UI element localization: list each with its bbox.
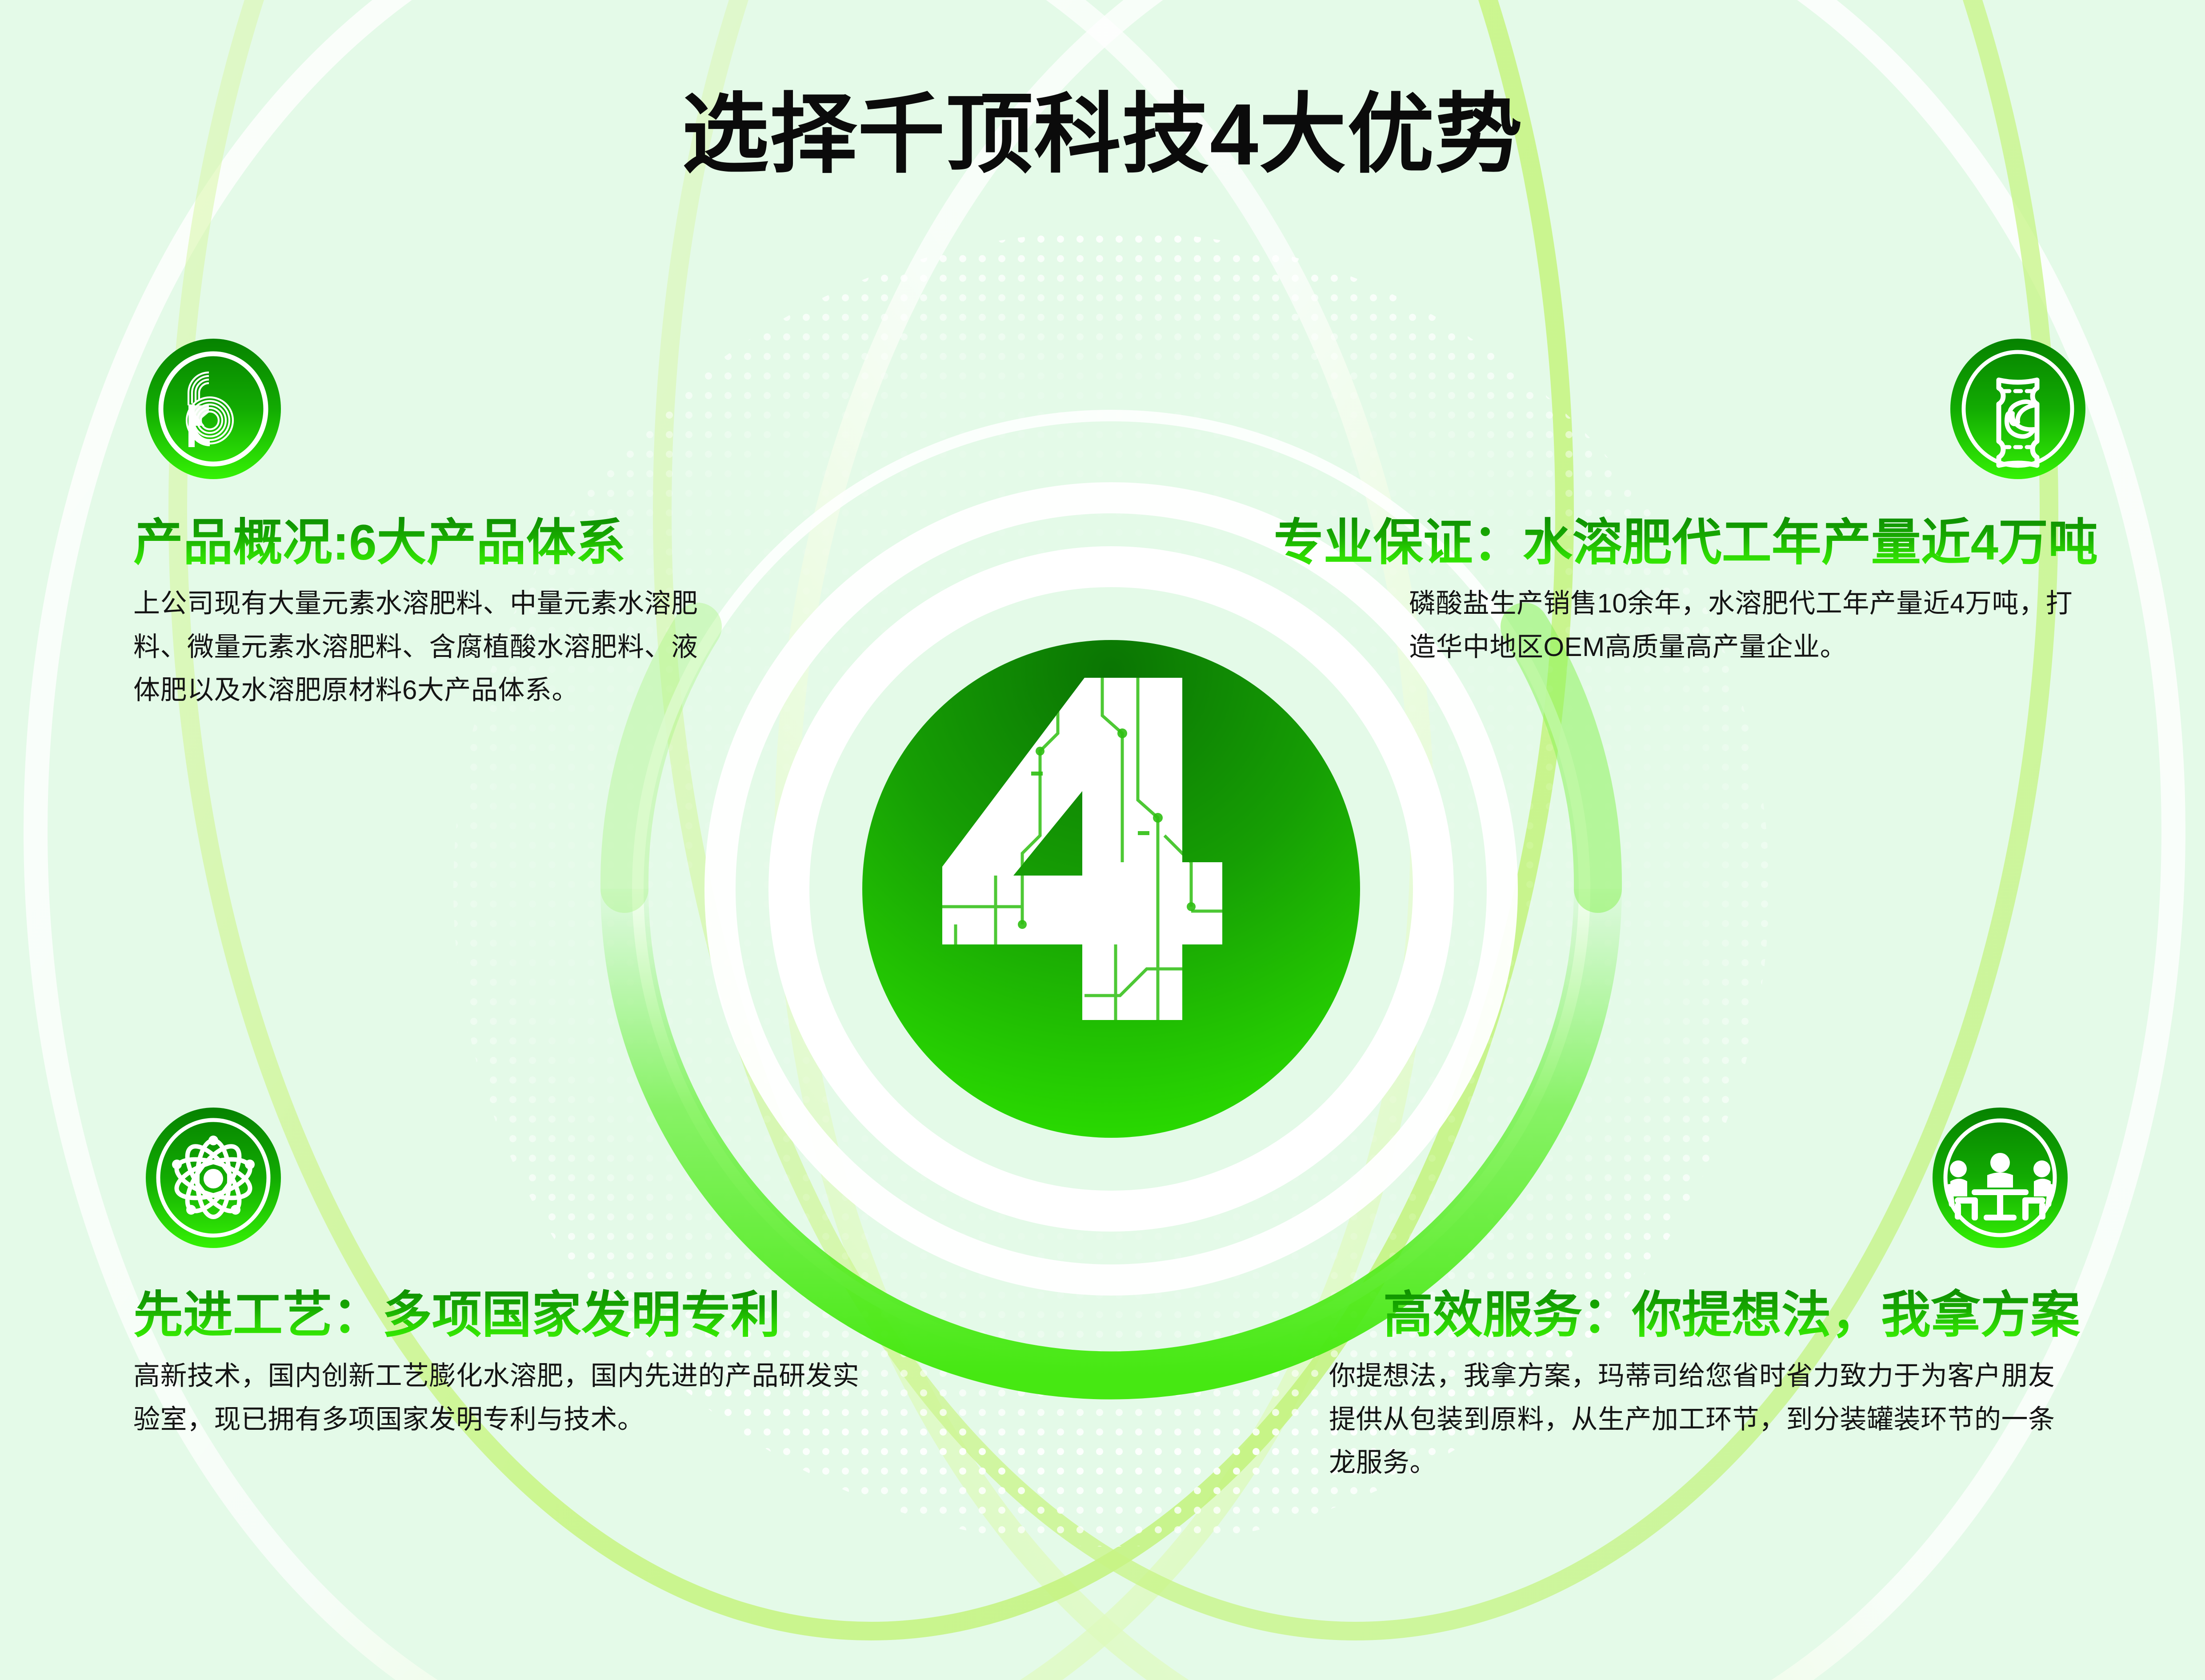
advantage-card-efficient-service: 高效服务：你提想法，我拿方案 你提想法，我拿方案，玛蒂司给您省时省力致力于为客户… bbox=[1329, 1107, 2080, 1484]
advantage-headline: 产品概况:6大产品体系 bbox=[133, 515, 707, 570]
advantage-card-product-overview: 产品概况:6大产品体系 上公司现有大量元素水溶肥料、中量元素水溶肥料、微量元素水… bbox=[133, 338, 707, 712]
infographic-canvas: 选择千顶科技4大优势 bbox=[0, 0, 2205, 1680]
page-title: 选择千顶科技4大优势 bbox=[0, 91, 2205, 178]
number-six-badge-icon bbox=[142, 338, 284, 480]
meeting-people-icon bbox=[1929, 1107, 2071, 1249]
advantage-headline: 先进工艺：多项国家发明专利 bbox=[133, 1287, 871, 1343]
advantage-card-professional-guarantee: 专业保证：水溶肥代工年产量近4万吨 磷酸盐生产销售10余年，水溶肥代工年产量近4… bbox=[1200, 338, 2098, 668]
advantage-body: 高新技术，国内创新工艺膨化水溶肥，国内先进的产品研发实验室，现已拥有多项国家发明… bbox=[133, 1354, 871, 1440]
advantage-headline: 高效服务：你提想法，我拿方案 bbox=[1329, 1287, 2080, 1343]
advantage-card-advanced-process: 先进工艺：多项国家发明专利 高新技术，国内创新工艺膨化水溶肥，国内先进的产品研发… bbox=[133, 1107, 871, 1441]
atom-icon bbox=[142, 1107, 284, 1249]
advantage-headline: 专业保证：水溶肥代工年产量近4万吨 bbox=[1200, 515, 2098, 570]
advantage-body: 上公司现有大量元素水溶肥料、中量元素水溶肥料、微量元素水溶肥料、含腐植酸水溶肥料… bbox=[133, 582, 707, 712]
fertilizer-bag-icon bbox=[1947, 338, 2089, 480]
advantage-body: 你提想法，我拿方案，玛蒂司给您省时省力致力于为客户朋友提供从包装到原料，从生产加… bbox=[1329, 1354, 2080, 1484]
advantage-body: 磷酸盐生产销售10余年，水溶肥代工年产量近4万吨，打造华中地区OEM高质量高产量… bbox=[1409, 582, 2098, 668]
